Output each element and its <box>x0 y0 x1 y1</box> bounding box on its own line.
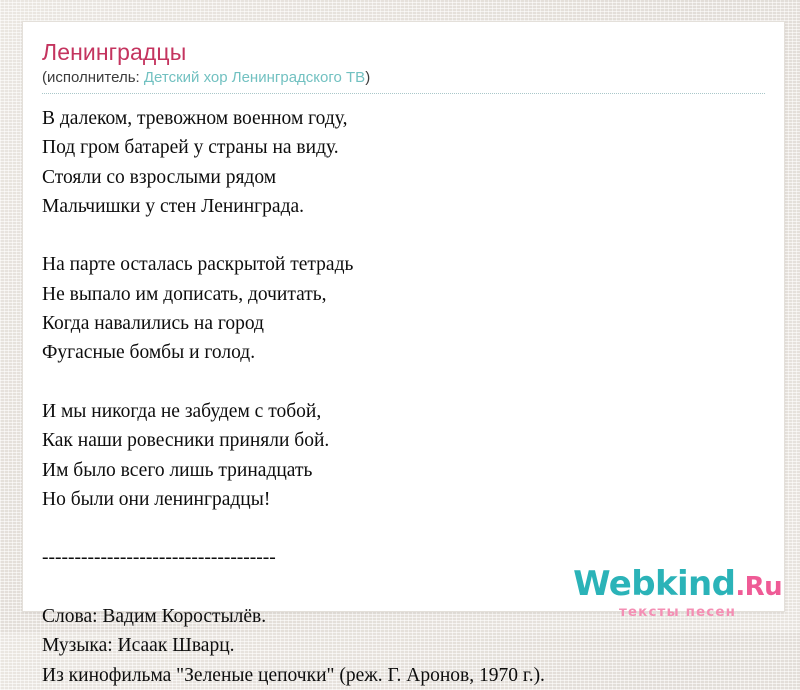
watermark: Webkind.Ru тексты песен <box>573 567 782 620</box>
page-root: Ленинградцы (исполнитель: Детский хор Ле… <box>0 0 800 633</box>
performer-link[interactable]: Детский хор Ленинградского ТВ <box>144 69 365 86</box>
song-content-card: Ленинградцы (исполнитель: Детский хор Ле… <box>22 21 785 612</box>
watermark-tagline: тексты песен <box>573 605 782 620</box>
performer-suffix-label: ) <box>365 69 370 86</box>
watermark-brand-web: Web <box>573 564 655 604</box>
watermark-brand-tld: .Ru <box>735 572 782 602</box>
watermark-brand-kind: kind <box>655 564 735 604</box>
performer-line: (исполнитель: Детский хор Ленинградского… <box>42 68 768 93</box>
performer-prefix-label: (исполнитель: <box>42 69 144 86</box>
watermark-brand: Webkind.Ru <box>573 567 782 604</box>
page-title: Ленинградцы <box>42 38 768 67</box>
